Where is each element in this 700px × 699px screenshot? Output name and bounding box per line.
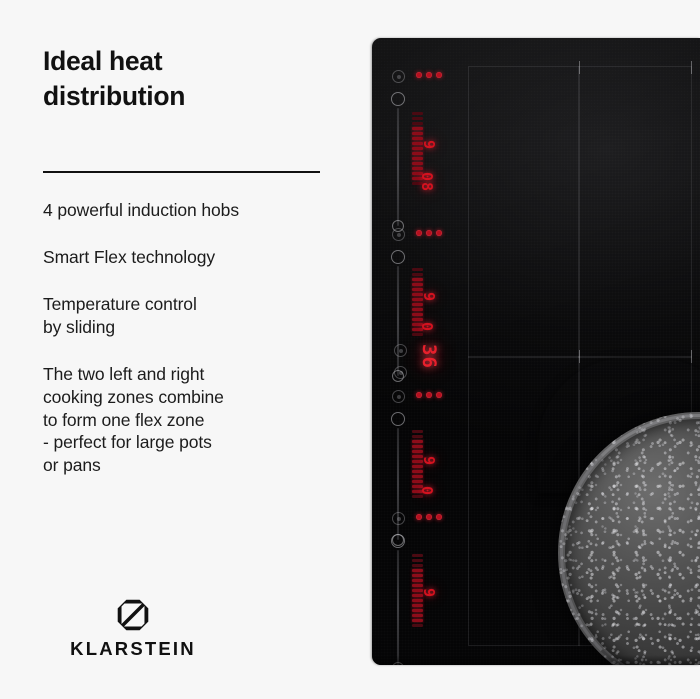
- cooking-zone-bottom-left: [468, 356, 580, 646]
- power-icon[interactable]: [392, 512, 405, 525]
- cooking-zone-top-right: [578, 66, 692, 358]
- text-panel: Ideal heat distribution 4 powerful induc…: [0, 0, 372, 699]
- touch-control-panel[interactable]: 9 08 9 0: [390, 38, 472, 665]
- indicator-leds: [416, 392, 442, 398]
- brand-name: KLARSTEIN: [43, 638, 223, 660]
- list-item: Temperature control by sliding: [43, 293, 348, 339]
- power-level-display: 9: [420, 588, 438, 598]
- indicator-leds: [416, 72, 442, 78]
- timer-display: 0: [418, 486, 436, 496]
- ring-icon[interactable]: [391, 250, 405, 264]
- copper-arch-handle: [538, 358, 700, 493]
- flex-zone-display: 36: [418, 344, 440, 369]
- ring-icon[interactable]: [391, 412, 405, 426]
- zone-control-group-1[interactable]: 9 08: [390, 68, 472, 228]
- product-feature-image: Ideal heat distribution 4 powerful induc…: [0, 0, 700, 699]
- pan-rim-highlight: [560, 414, 700, 665]
- power-level-display: 9: [420, 456, 438, 466]
- power-icon[interactable]: [392, 228, 405, 241]
- cooking-zone-bottom-right: [578, 356, 692, 646]
- cooking-zone-top-left: [468, 66, 580, 358]
- indicator-leds: [416, 514, 442, 520]
- slider-knob[interactable]: [392, 662, 404, 665]
- granite-pan: [534, 356, 700, 665]
- ring-icon[interactable]: [391, 534, 405, 548]
- page-title: Ideal heat distribution: [43, 44, 343, 114]
- power-level-display: 9: [420, 292, 438, 302]
- granite-speckle-texture: [558, 412, 700, 665]
- power-level-display: 9: [420, 140, 438, 150]
- minus-icon[interactable]: [394, 366, 407, 379]
- indicator-leds: [416, 230, 442, 236]
- power-icon[interactable]: [392, 390, 405, 403]
- slider-track[interactable]: [397, 550, 399, 665]
- zone-control-group-4[interactable]: 9: [390, 510, 472, 665]
- list-item: Smart Flex technology: [43, 246, 348, 269]
- induction-cooktop: 9 08 9 0: [372, 38, 700, 665]
- pan-rim: [558, 412, 700, 665]
- plus-icon[interactable]: [394, 344, 407, 357]
- divider: [43, 171, 320, 173]
- octagon-split-logo-icon: [116, 598, 150, 632]
- feature-list: 4 powerful induction hobs Smart Flex tec…: [43, 199, 348, 477]
- brand-logo: KLARSTEIN: [43, 598, 223, 660]
- ring-icon[interactable]: [391, 92, 405, 106]
- list-item: 4 powerful induction hobs: [43, 199, 348, 222]
- list-item: The two left and right cooking zones com…: [43, 363, 348, 478]
- power-icon[interactable]: [392, 70, 405, 83]
- timer-display: 08: [418, 172, 436, 192]
- slider-track[interactable]: [397, 108, 399, 226]
- pan-body: [558, 412, 700, 665]
- timer-display: 0: [418, 322, 436, 332]
